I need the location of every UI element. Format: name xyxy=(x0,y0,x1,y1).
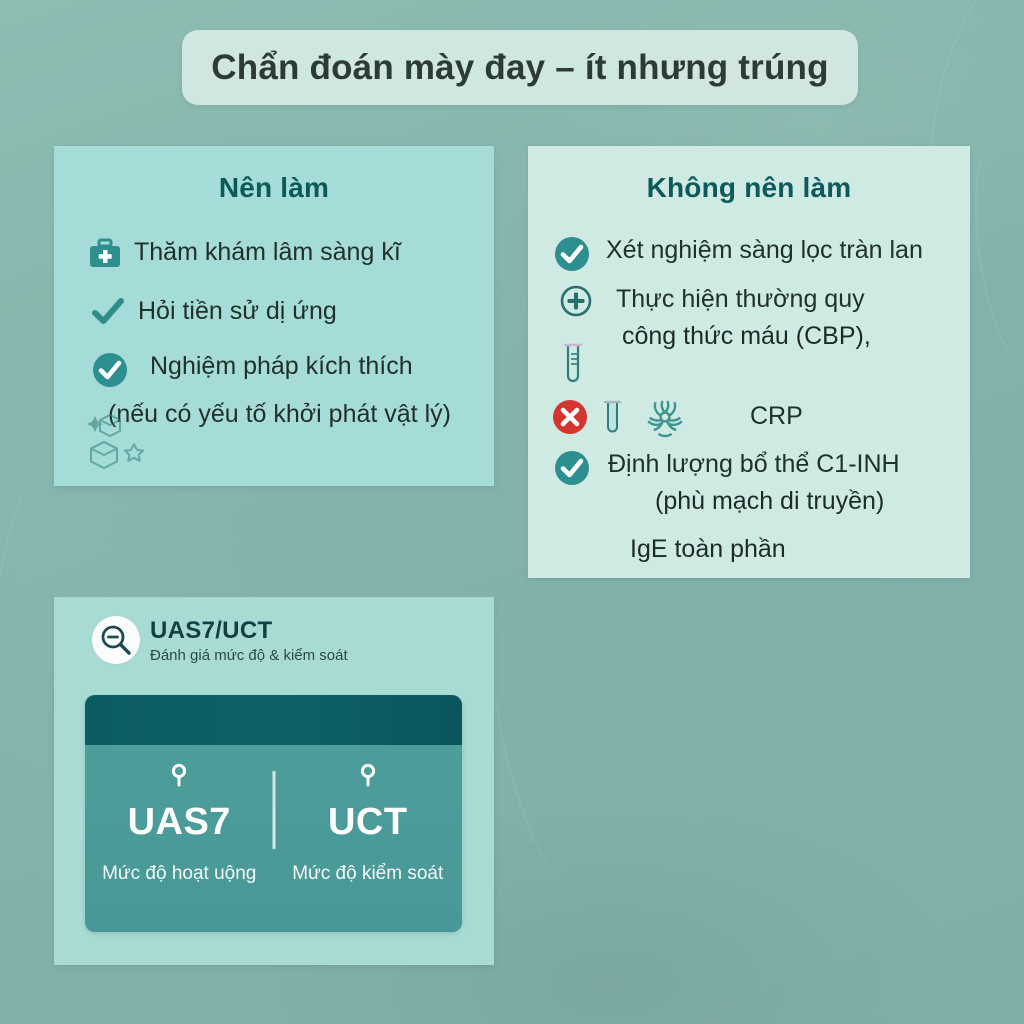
pin-icon xyxy=(357,763,379,797)
check-mark-icon xyxy=(92,297,124,327)
dont-list-item: Định lượng bổ thể C1-INH xyxy=(554,450,900,486)
do-list-item: Hỏi tiền sử dị ứng xyxy=(92,297,337,327)
dont-list-item-label: CRP xyxy=(750,402,803,432)
score-card-header: UAS7/UCT Đánh giá mức độ & kiểm soát xyxy=(92,616,348,664)
do-list-item-label: Thăm khám lâm sàng kĩ xyxy=(134,238,401,268)
dont-list-item-label: Định lượng bổ thể C1-INH xyxy=(608,450,900,480)
score-metric-label: UCT xyxy=(328,803,408,841)
test-tube-icon xyxy=(602,397,624,437)
dont-list-item-label-continued: công thức máu (CBP), xyxy=(622,322,871,351)
score-panel: UAS7 Mức độ hoạt uộng UCT Mức độ kiểm so… xyxy=(85,695,462,932)
dont-list-item-label: Xét nghiệm sàng lọc tràn lan xyxy=(606,236,923,266)
check-circle-icon xyxy=(92,352,128,388)
dont-list-item-label: Thực hiện thường quy xyxy=(616,285,865,315)
do-list-item-label: Nghiệm pháp kích thích xyxy=(150,352,413,382)
score-metric-caption: Mức độ kiểm soát xyxy=(292,863,443,885)
magnifier-minus-icon xyxy=(92,616,140,664)
test-tube-icon xyxy=(560,340,586,386)
score-metric-uct: UCT Mức độ kiểm soát xyxy=(274,745,463,932)
do-list-item: Nghiệm pháp kích thích xyxy=(92,352,413,388)
dont-card-last-line: IgE toàn phần xyxy=(630,535,786,564)
check-circle-icon xyxy=(554,450,590,486)
score-card-title: UAS7/UCT xyxy=(150,617,348,645)
score-metric-label: UAS7 xyxy=(128,803,231,841)
page-title-banner: Chẩn đoán mày đay – ít nhưng trúng xyxy=(182,30,858,105)
page-title: Chẩn đoán mày đay – ít nhưng trúng xyxy=(211,48,828,88)
dont-list-item: Xét nghiệm sàng lọc tràn lan xyxy=(554,236,923,272)
plus-circle-icon xyxy=(560,285,592,317)
dont-list-item: Thực hiện thường quy xyxy=(560,285,865,317)
score-panel-body: UAS7 Mức độ hoạt uộng UCT Mức độ kiểm so… xyxy=(85,745,462,932)
error-circle-icon xyxy=(552,399,588,435)
score-metric-uas7: UAS7 Mức độ hoạt uộng xyxy=(85,745,274,932)
do-list-item: Thăm khám lâm sàng kĩ xyxy=(88,238,401,270)
score-card-subtitle: Đánh giá mức độ & kiểm soát xyxy=(150,647,348,664)
score-panel-header-bar xyxy=(85,695,462,745)
decorative-icon-cluster xyxy=(86,406,160,477)
dont-card-heading: Không nên làm xyxy=(528,172,970,204)
do-card-heading: Nên làm xyxy=(54,172,494,204)
do-list-item-label: Hỏi tiền sử dị ứng xyxy=(138,297,337,327)
pin-icon xyxy=(168,763,190,797)
dont-card-note: (phù mạch di truyền) xyxy=(655,487,884,516)
medical-kit-icon xyxy=(88,238,122,270)
dont-list-item: CRP xyxy=(552,396,803,438)
score-metric-caption: Mức độ hoạt uộng xyxy=(102,863,256,885)
biohazard-icon xyxy=(642,396,688,438)
check-circle-icon xyxy=(554,236,590,272)
